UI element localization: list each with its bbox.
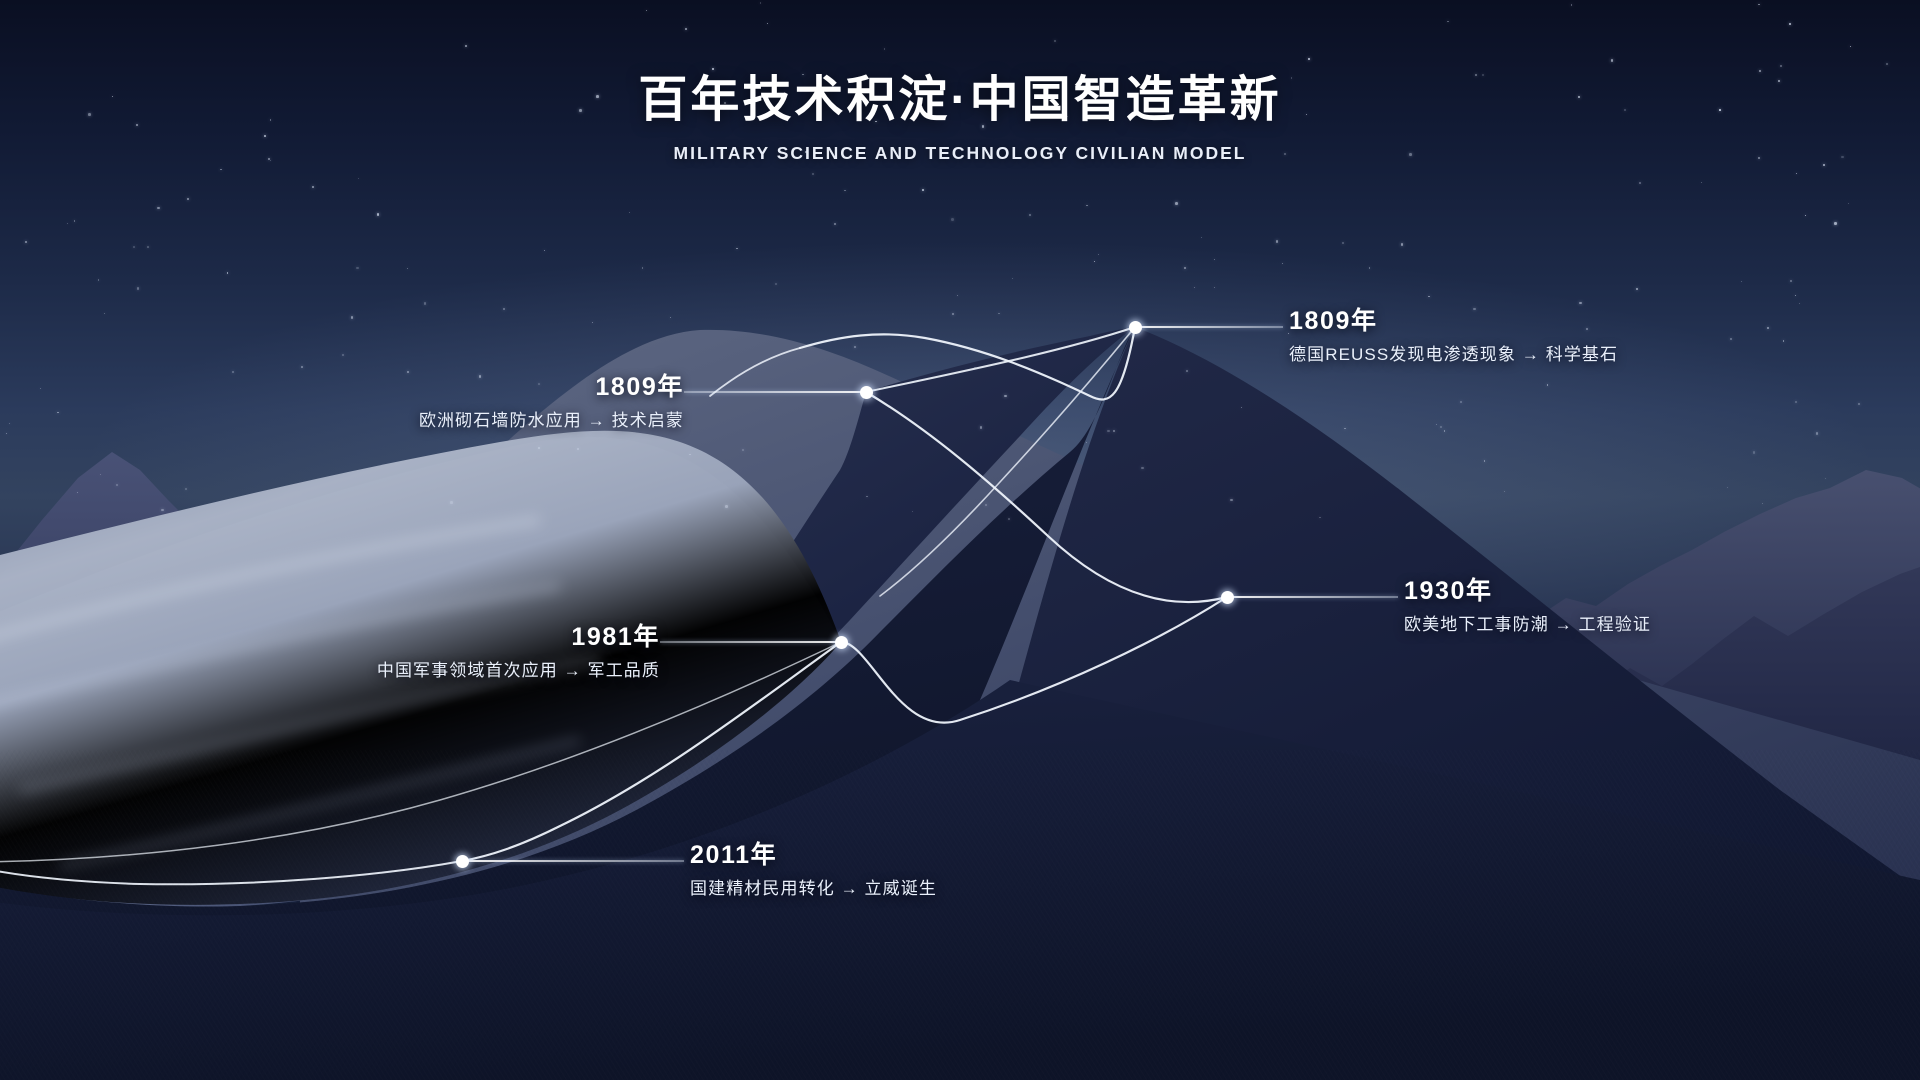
milestone-description: 欧美地下工事防潮 → 工程验证 bbox=[1404, 614, 1651, 636]
timeline-connector-line bbox=[660, 641, 837, 643]
timeline-connector-line bbox=[684, 391, 862, 393]
hero-heading-block: 百年技术积淀·中国智造革新 MILITARY SCIENCE AND TECHN… bbox=[0, 72, 1920, 164]
hero-banner: 百年技术积淀·中国智造革新 MILITARY SCIENCE AND TECHN… bbox=[0, 0, 1920, 1080]
milestone-description: 国建精材民用转化 → 立威诞生 bbox=[690, 878, 937, 900]
timeline-marker-dot[interactable] bbox=[835, 636, 848, 649]
timeline-marker-dot[interactable] bbox=[456, 855, 469, 868]
page-subtitle: MILITARY SCIENCE AND TECHNOLOGY CIVILIAN… bbox=[0, 143, 1920, 164]
timeline-marker-dot[interactable] bbox=[1221, 591, 1234, 604]
timeline-milestone[interactable]: 1809年欧洲砌石墙防水应用 → 技术启蒙 bbox=[384, 372, 684, 432]
milestone-year: 1981年 bbox=[320, 622, 660, 653]
timeline-milestone[interactable]: 1930年欧美地下工事防潮 → 工程验证 bbox=[1404, 576, 1651, 636]
timeline-milestone[interactable]: 1809年德国REUSS发现电渗透现象 → 科学基石 bbox=[1289, 306, 1618, 366]
timeline-marker-dot[interactable] bbox=[860, 386, 873, 399]
milestone-description: 中国军事领域首次应用 → 军工品质 bbox=[320, 660, 660, 682]
milestone-description: 欧洲砌石墙防水应用 → 技术启蒙 bbox=[384, 410, 684, 432]
timeline-connector-line bbox=[1141, 326, 1283, 328]
timeline-marker-dot[interactable] bbox=[1129, 321, 1142, 334]
timeline-milestone[interactable]: 1981年中国军事领域首次应用 → 军工品质 bbox=[320, 622, 660, 682]
milestone-year: 1809年 bbox=[1289, 306, 1618, 337]
page-title: 百年技术积淀·中国智造革新 bbox=[0, 72, 1920, 130]
milestone-year: 1930年 bbox=[1404, 576, 1651, 607]
milestone-description: 德国REUSS发现电渗透现象 → 科学基石 bbox=[1289, 344, 1618, 366]
milestone-year: 1809年 bbox=[384, 372, 684, 403]
timeline-connector-line bbox=[1233, 596, 1398, 598]
timeline-milestone[interactable]: 2011年国建精材民用转化 → 立威诞生 bbox=[690, 840, 937, 900]
timeline-connector-line bbox=[468, 860, 684, 862]
milestone-year: 2011年 bbox=[690, 840, 937, 871]
